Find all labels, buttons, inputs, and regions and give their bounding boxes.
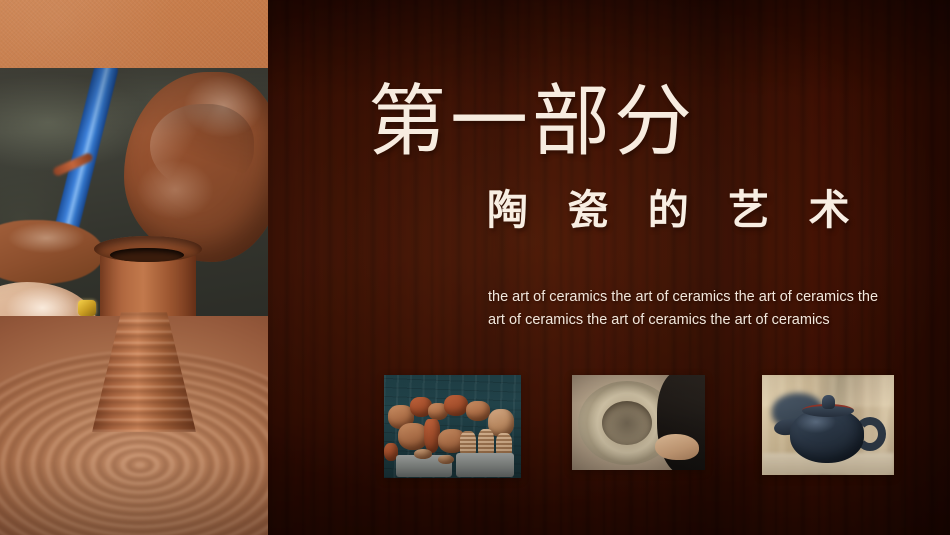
thumb1-pot-lid [438,455,454,464]
page-subtitle: 陶 瓷 的 艺 术 [487,190,864,231]
thumb1-beehive-pot [496,433,512,455]
thumb1-pot [444,395,468,416]
thumb3-teapot-knob [822,395,835,409]
thumbnail-terracotta-pots [384,375,521,478]
thumb1-beehive-pot [460,431,476,455]
thumb2-potter-hand [655,434,699,460]
photo-gold-ring [78,300,96,316]
hero-photo-potter [0,68,268,535]
thumb1-pot [466,401,490,421]
thumb1-beehive-pot [478,429,494,455]
body-paragraph: the art of ceramics the art of ceramics … [488,286,892,332]
thumb3-teapot-body [790,409,864,463]
presentation-slide: 第一部分 陶 瓷 的 艺 术 the art of ceramics the a… [0,0,950,535]
page-title: 第一部分 [368,82,696,160]
thumbnail-teapot [762,375,894,475]
thumbnail-pottery-wheel [572,375,705,470]
thumb1-stone-stand [456,453,514,477]
terracotta-accent-band [0,0,268,68]
thumb1-pot-lid [414,449,432,459]
